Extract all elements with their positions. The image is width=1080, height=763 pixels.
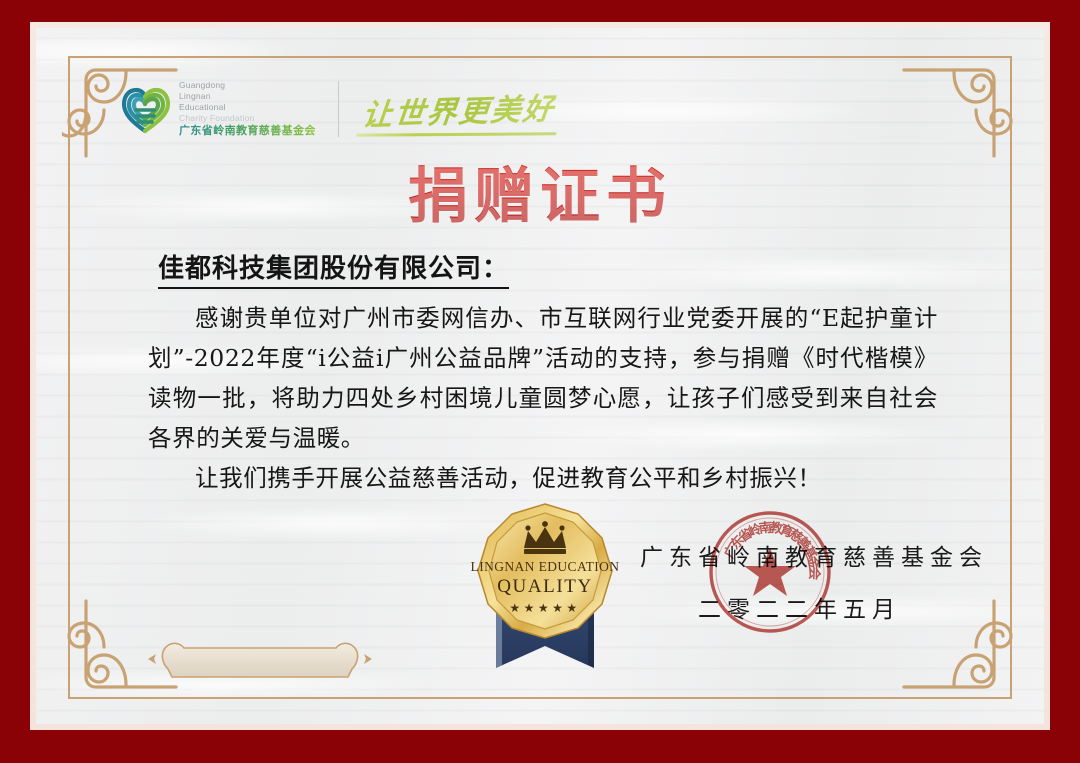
logo-chinese-name: 广东省岭南教育慈善基金会	[179, 124, 316, 138]
page-title: 捐赠证书	[0, 148, 1080, 235]
logo-en-line-1: Guangdong	[179, 80, 316, 91]
certificate-header: Guangdong Lingnan Educational Charity Fo…	[120, 70, 960, 148]
body-paragraph-1: 感谢贵单位对广州市委网信办、市互联网行业党委开展的“E起护童计划”-2022年度…	[148, 298, 938, 458]
medal-stars-text: ★★★★★	[509, 601, 580, 615]
foundation-logo: Guangdong Lingnan Educational Charity Fo…	[120, 78, 316, 140]
logo-en-line-3: Educational	[179, 102, 316, 113]
body-paragraph-2: 让我们携手开展公益慈善活动，促进教育公平和乡村振兴！	[148, 458, 938, 498]
header-divider	[338, 81, 339, 137]
gold-medal-icon: LINGNAN EDUCATION QUALITY ★★★★★	[466, 500, 624, 672]
signature-date: 二零二二年五月	[698, 590, 988, 624]
slogan-text: 让世界更美好	[360, 84, 557, 135]
recipient-name: 佳都科技集团股份有限公司：	[158, 248, 509, 289]
logo-en-line-4: Charity Foundation	[179, 113, 316, 124]
logo-english-name: Guangdong Lingnan Educational Charity Fo…	[179, 80, 316, 124]
medal-line-1-text: LINGNAN EDUCATION	[471, 559, 620, 574]
logo-en-line-2: Lingnan	[179, 91, 316, 102]
medal-line-2-text: QUALITY	[497, 576, 593, 597]
bottom-watermark-strip	[0, 749, 1080, 763]
signature-block: 广东省岭南教育慈善基金会 二零二二年五月	[640, 538, 988, 624]
decorative-nameplate-cartouche	[140, 639, 380, 685]
logo-text-block: Guangdong Lingnan Educational Charity Fo…	[179, 80, 316, 138]
signature-organization: 广东省岭南教育慈善基金会	[640, 538, 988, 572]
certificate-body: 感谢贵单位对广州市委网信办、市互联网行业党委开展的“E起护童计划”-2022年度…	[148, 298, 938, 498]
heart-logo-icon	[120, 84, 172, 134]
certificate-document: Guangdong Lingnan Educational Charity Fo…	[0, 0, 1080, 763]
